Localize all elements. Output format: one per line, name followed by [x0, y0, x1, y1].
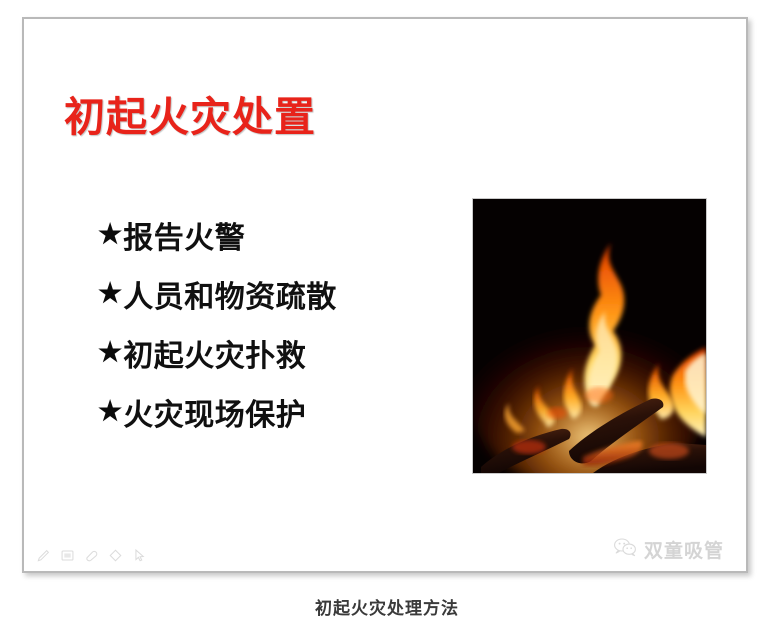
- bullet-list: ★ 报告火警 ★ 人员和物资疏散 ★ 初起火灾扑救 ★ 火灾现场保护: [98, 205, 458, 441]
- star-icon: ★: [98, 398, 122, 425]
- wechat-icon: [613, 537, 637, 562]
- star-icon: ★: [98, 280, 122, 307]
- cursor-icon[interactable]: [132, 548, 147, 563]
- bonfire-photo: [472, 198, 707, 474]
- list-item: ★ 人员和物资疏散: [98, 264, 458, 323]
- list-item: ★ 初起火灾扑救: [98, 323, 458, 382]
- list-item-label: 报告火警: [123, 213, 245, 257]
- list-item: ★ 报告火警: [98, 205, 458, 264]
- list-item: ★ 火灾现场保护: [98, 382, 458, 441]
- list-item-label: 人员和物资疏散: [123, 272, 337, 316]
- eraser-icon[interactable]: [84, 548, 99, 563]
- slide-viewer[interactable]: 初起火灾处置 ★ 报告火警 ★ 人员和物资疏散 ★ 初起火灾扑救 ★ 火灾现场保…: [22, 17, 748, 573]
- list-item-label: 火灾现场保护: [123, 390, 306, 434]
- watermark: 双童吸管: [613, 536, 724, 563]
- shape-icon[interactable]: [108, 548, 123, 563]
- pen-icon[interactable]: [36, 548, 51, 563]
- star-icon: ★: [98, 221, 122, 248]
- caption: 初起火灾处理方法: [0, 594, 774, 619]
- slide-canvas: 初起火灾处置 ★ 报告火警 ★ 人员和物资疏散 ★ 初起火灾扑救 ★ 火灾现场保…: [24, 19, 746, 571]
- page-title: 初起火灾处置: [64, 95, 316, 140]
- highlighter-icon[interactable]: [60, 548, 75, 563]
- watermark-label: 双童吸管: [644, 536, 724, 563]
- list-item-label: 初起火灾扑救: [123, 331, 306, 375]
- star-icon: ★: [98, 339, 122, 366]
- annotation-toolbar[interactable]: [30, 545, 153, 566]
